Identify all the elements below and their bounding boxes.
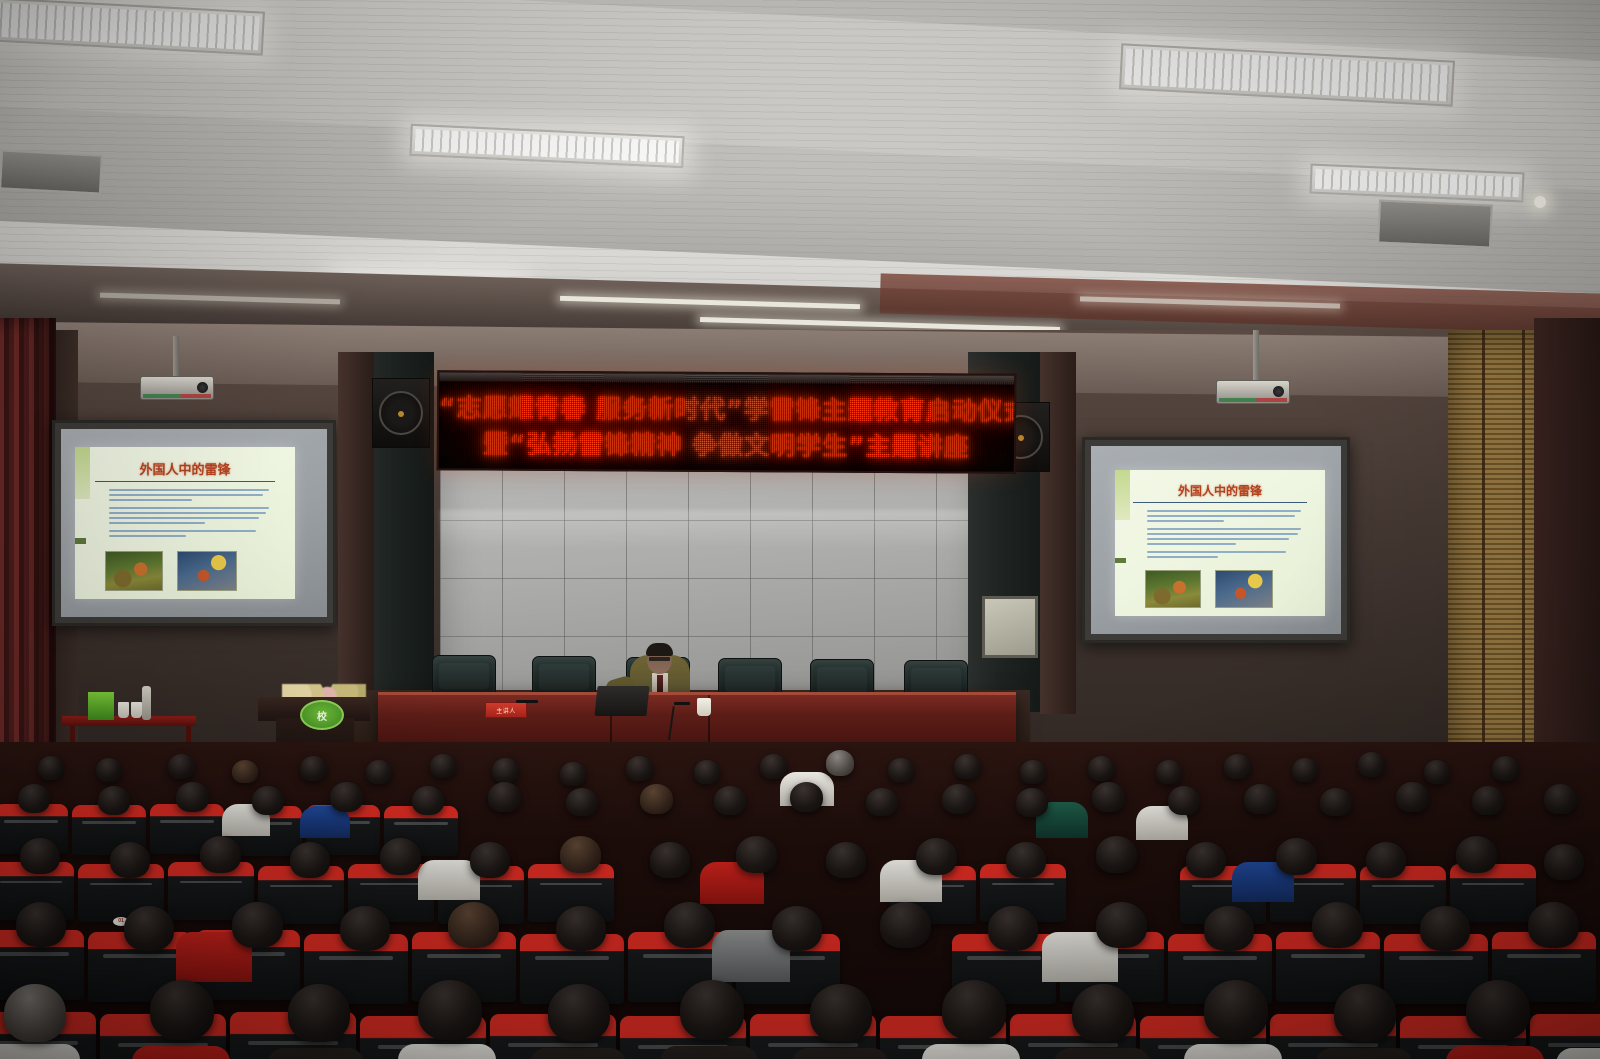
audience-head [772, 906, 822, 951]
audience-head [1244, 784, 1277, 814]
audience-head [1528, 902, 1579, 948]
audience-head [1334, 984, 1396, 1042]
audience-torso [268, 1048, 364, 1059]
school-logo-icon: 校 [300, 700, 344, 730]
audience-head [488, 782, 521, 812]
auditorium-photo: 外国人中的雷锋 [0, 0, 1600, 1059]
right-wall-panel [1534, 318, 1600, 768]
projector-lens-icon [1273, 386, 1284, 397]
audience-head [1466, 980, 1530, 1040]
led-banner-line-2: 暨“弘扬雷锋精神 争做文明学生”主题讲座 [439, 424, 1014, 464]
slide-right: 外国人中的雷锋 [1115, 470, 1325, 616]
ceiling-projector-right [1216, 380, 1290, 404]
audience-head [1276, 838, 1317, 875]
laptop [594, 686, 649, 716]
audience-head [916, 838, 957, 875]
audience-head [492, 758, 519, 783]
audience-head [1312, 902, 1363, 948]
water-bottle [142, 686, 151, 720]
audience-head [448, 902, 499, 948]
stage-column-window [982, 596, 1038, 658]
audience-head [1088, 756, 1115, 781]
audience-head [714, 786, 746, 815]
audience-head [150, 980, 214, 1040]
projector-label-strip [1219, 398, 1287, 402]
audience-head [560, 762, 586, 786]
audience-head [1006, 842, 1046, 878]
left-curtain [0, 318, 56, 758]
ceiling-downlight [1534, 196, 1546, 208]
audience-head [1092, 782, 1125, 812]
projector-lens-icon [197, 382, 208, 393]
audience-head [96, 758, 122, 782]
audience-head [1096, 902, 1147, 948]
audience-head [548, 984, 610, 1042]
audience-head [566, 788, 598, 816]
paper-cup [131, 702, 142, 718]
audience-head [232, 902, 283, 948]
projection-screen-left: 外国人中的雷锋 [52, 420, 336, 626]
audience-head [168, 754, 195, 779]
audience-head [470, 842, 510, 878]
audience-head [124, 906, 174, 951]
audience-head [1420, 906, 1470, 951]
audience-head [626, 756, 653, 781]
audience-head [736, 836, 777, 873]
projector-label-strip [143, 394, 211, 398]
projector-mount-pole-left [173, 336, 179, 380]
audience-head [252, 786, 284, 815]
audience-head [1020, 760, 1046, 784]
audience-head [110, 842, 150, 878]
audience-head [1156, 760, 1182, 784]
audience-head [1320, 788, 1352, 816]
slide-body-text [109, 489, 269, 540]
audience-head [1224, 754, 1251, 779]
paper-cup [697, 698, 711, 716]
audience-head [418, 980, 482, 1040]
audience-head [1366, 842, 1406, 878]
audience-head [380, 838, 421, 875]
audience-torso [132, 1046, 230, 1059]
audience-torso [1054, 1048, 1150, 1059]
slide-left: 外国人中的雷锋 [75, 447, 295, 599]
audience-torso [530, 1048, 626, 1059]
slide-decor-bar [75, 538, 86, 544]
audience-head [1472, 786, 1504, 815]
ceiling-projector-left [140, 376, 214, 400]
audience-torso [660, 1046, 758, 1059]
audience-head [300, 756, 327, 781]
backdrop-tile-grid [440, 462, 980, 712]
loudspeaker-left [372, 378, 430, 448]
name-plate: 主讲人 [485, 702, 527, 718]
audience-head [1204, 906, 1254, 951]
speaker-person-hair [646, 643, 673, 656]
audience-torso [1184, 1044, 1282, 1059]
audience-head [290, 842, 330, 878]
audience-torso [1316, 1048, 1412, 1059]
audience-head [412, 786, 444, 815]
screen-surface: 外国人中的雷锋 [61, 429, 327, 617]
audience-head [1072, 984, 1134, 1042]
audience-head [1544, 844, 1584, 880]
audience-head [4, 984, 66, 1042]
audience-head [826, 842, 866, 878]
audience-head [1396, 782, 1429, 812]
audience-head [1186, 842, 1226, 878]
audience-head [556, 906, 606, 951]
led-banner-line-1: “志愿耀青春 服务新时代”学雷锋主题教育启动仪式 [439, 388, 1014, 428]
audience-head [888, 758, 914, 782]
audience-head [38, 756, 64, 780]
audience-head [1292, 758, 1318, 782]
air-vent [0, 149, 103, 194]
audience-head [98, 786, 130, 815]
audience-head [760, 754, 787, 779]
audience-head [790, 782, 823, 812]
backdrop-light-sheen [440, 510, 980, 550]
audience-head [866, 788, 898, 816]
audience-head [1544, 784, 1577, 814]
audience-head [1204, 980, 1268, 1040]
led-banner-housing [439, 372, 1014, 385]
audience-torso [792, 1048, 888, 1059]
microphone-center [674, 702, 690, 705]
audience-torso [0, 1044, 80, 1059]
audience-seating: 01 [0, 742, 1600, 1059]
audience-head [20, 838, 60, 874]
slide-decor-bar [1115, 558, 1126, 564]
audience-head [560, 836, 601, 873]
school-logo-text: 校 [317, 708, 327, 723]
audience-head [880, 902, 931, 948]
slide-title: 外国人中的雷锋 [1115, 482, 1325, 499]
audience-head [664, 902, 715, 948]
side-table [62, 716, 196, 726]
audience-head [680, 980, 744, 1040]
slide-photo-left [1145, 570, 1201, 608]
audience-torso [398, 1044, 496, 1059]
audience-head [954, 754, 981, 779]
audience-head [1492, 756, 1519, 781]
stage-backdrop-wall [440, 462, 980, 712]
audience-head [640, 784, 673, 814]
slide-photo-right [1215, 570, 1273, 608]
blind-seam [1482, 330, 1485, 760]
audience-head [18, 784, 50, 813]
projector-mount-pole-right [1253, 330, 1259, 382]
glasses-icon [649, 657, 670, 661]
audience-head [1016, 788, 1048, 817]
led-banner: “志愿耀青春 服务新时代”学雷锋主题教育启动仪式 暨“弘扬雷锋精神 争做文明学生… [437, 370, 1017, 474]
screen-surface: 外国人中的雷锋 [1091, 446, 1341, 634]
audience-torso [1556, 1048, 1600, 1059]
slide-photo-right [177, 551, 237, 591]
name-plate-text: 主讲人 [496, 706, 516, 715]
audience-head [1424, 760, 1450, 784]
audience-head [330, 782, 363, 812]
slide-divider [1133, 502, 1307, 503]
paper-cup [118, 702, 129, 718]
green-box [88, 692, 114, 720]
audience-head [16, 902, 66, 947]
audience-head [430, 754, 456, 778]
stage-column-left-edge [338, 352, 374, 714]
audience-head [988, 906, 1038, 951]
slide-photo-left [105, 551, 163, 591]
audience-head [176, 782, 209, 812]
slide-title: 外国人中的雷锋 [75, 459, 295, 478]
audience-head [232, 760, 258, 783]
air-vent [1377, 199, 1493, 248]
speaker-center-dot [398, 411, 404, 417]
audience-head [942, 980, 1006, 1040]
microphone-left [516, 700, 538, 703]
audience-head [200, 836, 241, 873]
audience-head [1456, 836, 1497, 873]
audience-head [1168, 786, 1200, 815]
blind-seam [1522, 330, 1525, 760]
speaker-center-dot [1018, 435, 1024, 441]
audience-head [826, 750, 854, 776]
audience-head [1096, 836, 1137, 873]
audience-head [288, 984, 350, 1042]
slide-body-text [1147, 510, 1301, 561]
audience-torso [1446, 1046, 1544, 1059]
slide-divider [95, 481, 275, 482]
audience-torso [922, 1044, 1020, 1059]
audience-head [942, 784, 975, 814]
audience-head [694, 760, 720, 784]
audience-head [650, 842, 690, 878]
audience-head [366, 760, 392, 784]
audience-head [810, 984, 872, 1042]
audience-head [340, 906, 390, 951]
audience-head [1358, 752, 1385, 777]
projection-screen-right: 外国人中的雷锋 [1082, 437, 1350, 643]
